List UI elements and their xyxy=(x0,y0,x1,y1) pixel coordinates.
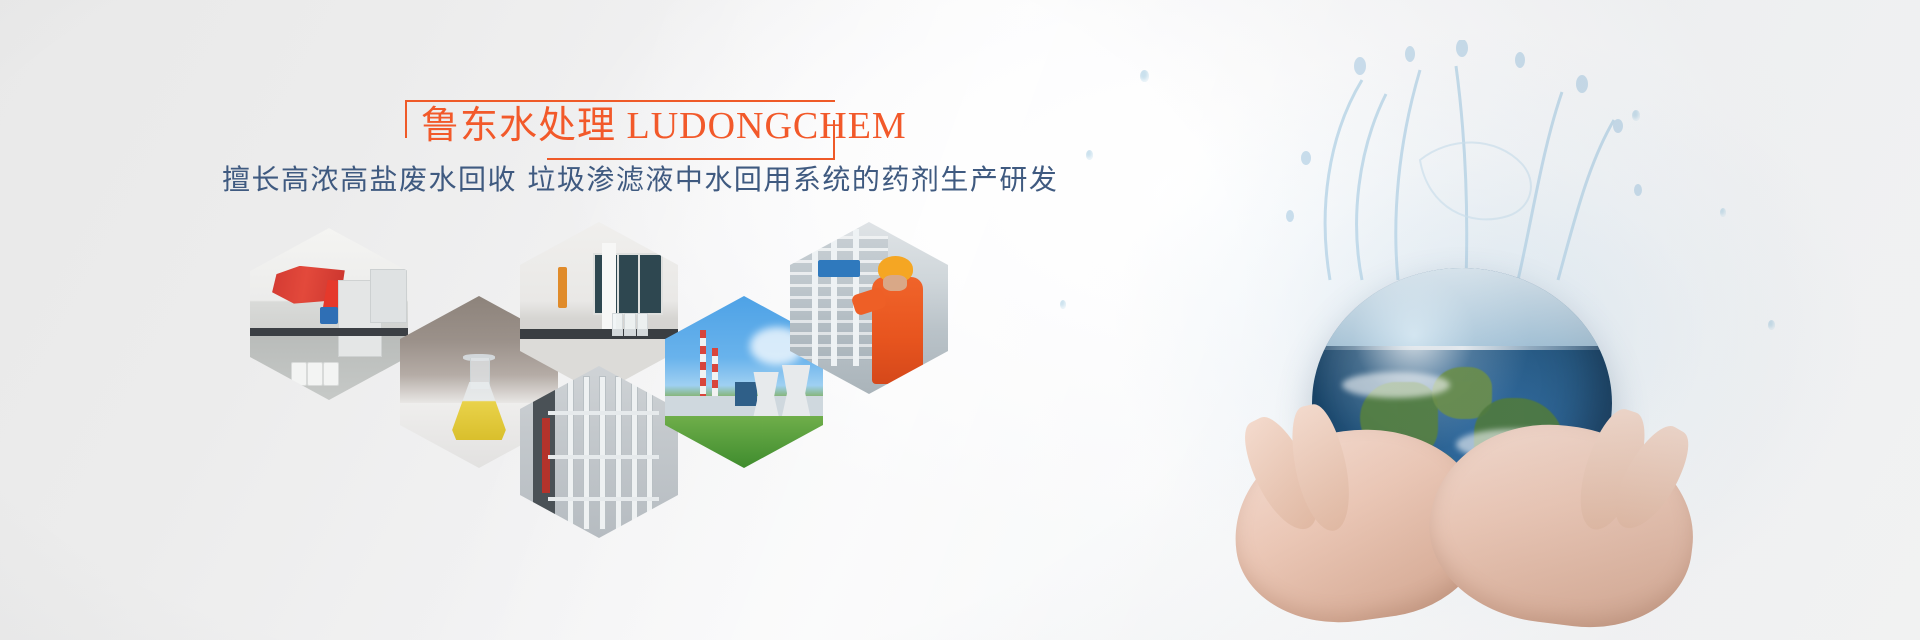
flask-body xyxy=(452,382,506,440)
lab-bench xyxy=(250,328,408,337)
lab-instrument xyxy=(320,307,339,324)
chemical-jug xyxy=(291,362,307,386)
water-droplet xyxy=(1140,70,1149,82)
vertical-pipe xyxy=(567,376,574,529)
plant-building xyxy=(735,382,757,406)
cooling-tower xyxy=(753,372,778,417)
water-droplet xyxy=(1086,150,1093,160)
horizontal-pipe xyxy=(548,411,659,415)
photo-lab-room xyxy=(250,228,408,400)
vertical-pipe xyxy=(583,376,590,529)
water-droplet xyxy=(1768,320,1775,330)
globe-cloud xyxy=(1342,372,1450,398)
glassware xyxy=(612,313,623,336)
hands-holding-globe xyxy=(1234,404,1704,640)
vertical-pipe xyxy=(615,376,622,529)
blue-equipment xyxy=(818,260,859,277)
cooling-tower xyxy=(782,365,810,417)
worker-face xyxy=(883,275,907,290)
horizontal-pipe xyxy=(548,455,659,459)
vertical-pipe xyxy=(646,376,653,529)
globe-waterline xyxy=(1312,346,1612,350)
orange-stand xyxy=(558,267,567,308)
vertical-pipe xyxy=(831,229,837,367)
hexagon-gallery xyxy=(0,0,1000,640)
water-droplet xyxy=(1632,110,1640,121)
glassware xyxy=(637,313,648,336)
water-droplet xyxy=(1720,208,1726,217)
vertical-pipe xyxy=(812,229,818,367)
lab-bench xyxy=(520,329,678,339)
gallery-tile-lab-room xyxy=(250,228,408,400)
chimney-stack xyxy=(700,330,706,406)
glassware xyxy=(624,313,635,336)
horizontal-pipe xyxy=(548,497,659,501)
green-field xyxy=(665,416,823,468)
water-splash-visual xyxy=(1020,0,1920,640)
chemical-jug xyxy=(307,362,323,386)
water-droplet xyxy=(1060,300,1066,309)
vertical-pipe xyxy=(599,376,606,529)
lab-cabinet xyxy=(370,269,407,323)
globe-sky xyxy=(1312,268,1612,346)
hero-banner: 鲁东水处理 LUDONGCHEM 擅长高浓高盐废水回收 垃圾渗滤液中水回用系统的… xyxy=(0,0,1920,640)
vertical-pipe xyxy=(631,376,638,529)
chemical-jug xyxy=(323,362,339,386)
